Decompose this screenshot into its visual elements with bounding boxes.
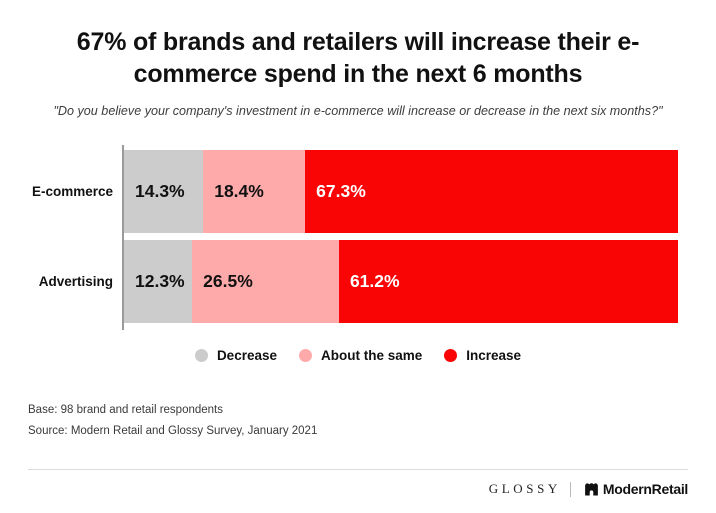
- category-label: Advertising: [0, 240, 113, 323]
- bar-segment-value: 14.3%: [135, 181, 185, 202]
- legend-item-decrease[interactable]: Decrease: [195, 348, 277, 363]
- storefront-icon: [584, 482, 599, 497]
- bar-track: 14.3% 18.4% 67.3%: [124, 150, 678, 233]
- modern-retail-logo: ModernRetail: [584, 481, 688, 497]
- legend-label: Decrease: [217, 348, 277, 363]
- glossy-logo: GLOSSY: [489, 481, 561, 497]
- bar-segment-about-the-same[interactable]: 26.5%: [192, 240, 339, 323]
- base-note: Base: 98 brand and retail respondents: [28, 400, 317, 421]
- bar-segment-value: 67.3%: [316, 181, 366, 202]
- source-note: Source: Modern Retail and Glossy Survey,…: [28, 421, 317, 442]
- bar-segment-value: 18.4%: [214, 181, 264, 202]
- legend-swatch-icon: [299, 349, 312, 362]
- chart-footnotes: Base: 98 brand and retail respondents So…: [28, 400, 317, 443]
- chart-legend: Decrease About the same Increase: [0, 348, 716, 363]
- chart-subtitle: "Do you believe your company's investmen…: [24, 103, 692, 119]
- bar-segment-value: 26.5%: [203, 271, 253, 292]
- bar-segment-increase[interactable]: 67.3%: [305, 150, 678, 233]
- bar-segment-value: 61.2%: [350, 271, 400, 292]
- bar-segment-decrease[interactable]: 12.3%: [124, 240, 192, 323]
- bar-segment-value: 12.3%: [135, 271, 185, 292]
- legend-label: Increase: [466, 348, 521, 363]
- bar-segment-decrease[interactable]: 14.3%: [124, 150, 203, 233]
- footer-divider: [28, 469, 688, 470]
- page-title: 67% of brands and retailers will increas…: [58, 26, 658, 90]
- legend-swatch-icon: [444, 349, 457, 362]
- legend-label: About the same: [321, 348, 422, 363]
- chart-row: E-commerce 14.3% 18.4% 67.3%: [0, 150, 716, 233]
- chart-row: Advertising 12.3% 26.5% 61.2%: [0, 240, 716, 323]
- category-label: E-commerce: [0, 150, 113, 233]
- legend-swatch-icon: [195, 349, 208, 362]
- bar-segment-increase[interactable]: 61.2%: [339, 240, 678, 323]
- bar-track: 12.3% 26.5% 61.2%: [124, 240, 678, 323]
- modern-retail-label: ModernRetail: [603, 481, 688, 497]
- bar-segment-about-the-same[interactable]: 18.4%: [203, 150, 305, 233]
- footer-branding: GLOSSY ModernRetail: [489, 481, 688, 497]
- legend-item-about-the-same[interactable]: About the same: [299, 348, 422, 363]
- stacked-bar-chart: E-commerce 14.3% 18.4% 67.3% Advertising…: [0, 140, 716, 335]
- chart-header: 67% of brands and retailers will increas…: [0, 0, 716, 119]
- legend-item-increase[interactable]: Increase: [444, 348, 521, 363]
- footer-separator: [570, 482, 571, 497]
